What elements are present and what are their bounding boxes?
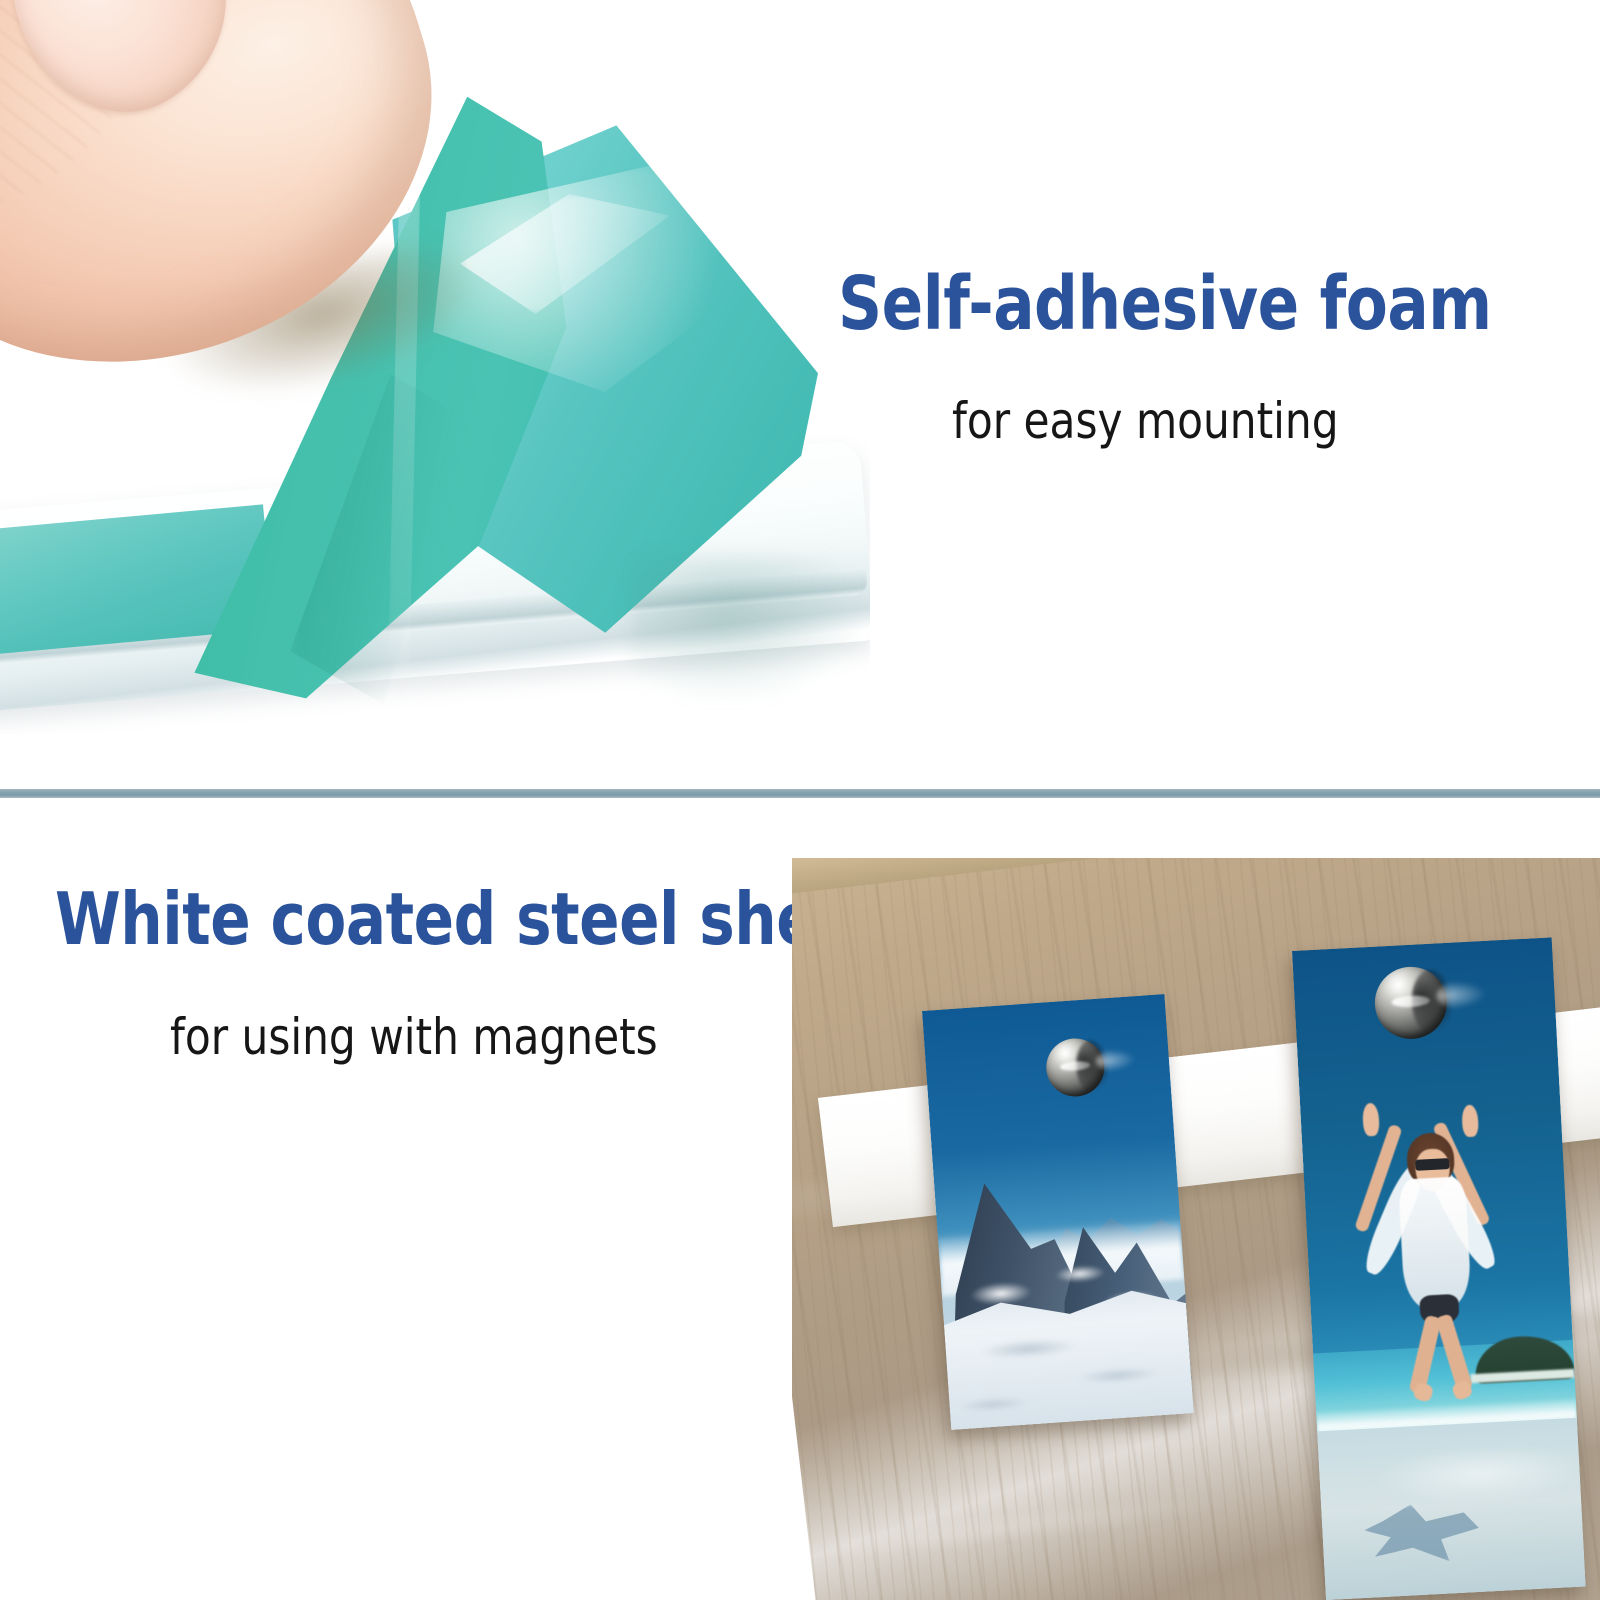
magnet-board-photo	[792, 858, 1600, 1600]
mountain-foreground-shading	[943, 1287, 1194, 1430]
beach-sand-sheen	[1317, 1418, 1585, 1600]
infographic-stage: Self-adhesive foam for easy mounting Whi…	[0, 0, 1600, 1600]
sunglasses-icon	[1415, 1158, 1449, 1171]
panel-self-adhesive-foam: Self-adhesive foam for easy mounting	[0, 0, 1600, 790]
panel-white-coated-steel-sheet: White coated steel sheet for using with …	[0, 798, 1600, 1600]
panel-top-subtitle-block: for easy mounting	[952, 392, 1363, 450]
panel-bottom-subtitle-block: for using with magnets	[170, 1008, 689, 1066]
foam-peel-photo	[0, 0, 870, 734]
panel-top-title-block: Self-adhesive foam	[838, 262, 1548, 346]
page-subtitle-foam: for easy mounting	[952, 392, 1339, 450]
panel-divider	[0, 789, 1600, 798]
film-tip-shadow	[630, 554, 870, 704]
photo-card-beach	[1292, 937, 1586, 1600]
ball-magnet-beach[interactable]	[1373, 965, 1449, 1041]
page-title-foam: Self-adhesive foam	[838, 262, 1492, 346]
woman-white-shirt	[1398, 1176, 1472, 1309]
page-subtitle-steel: for using with magnets	[170, 1008, 658, 1066]
page-title-steel: White coated steel sheet	[55, 878, 884, 960]
photo-card-mountain	[922, 994, 1194, 1430]
ball-magnet-mountain[interactable]	[1044, 1036, 1106, 1098]
